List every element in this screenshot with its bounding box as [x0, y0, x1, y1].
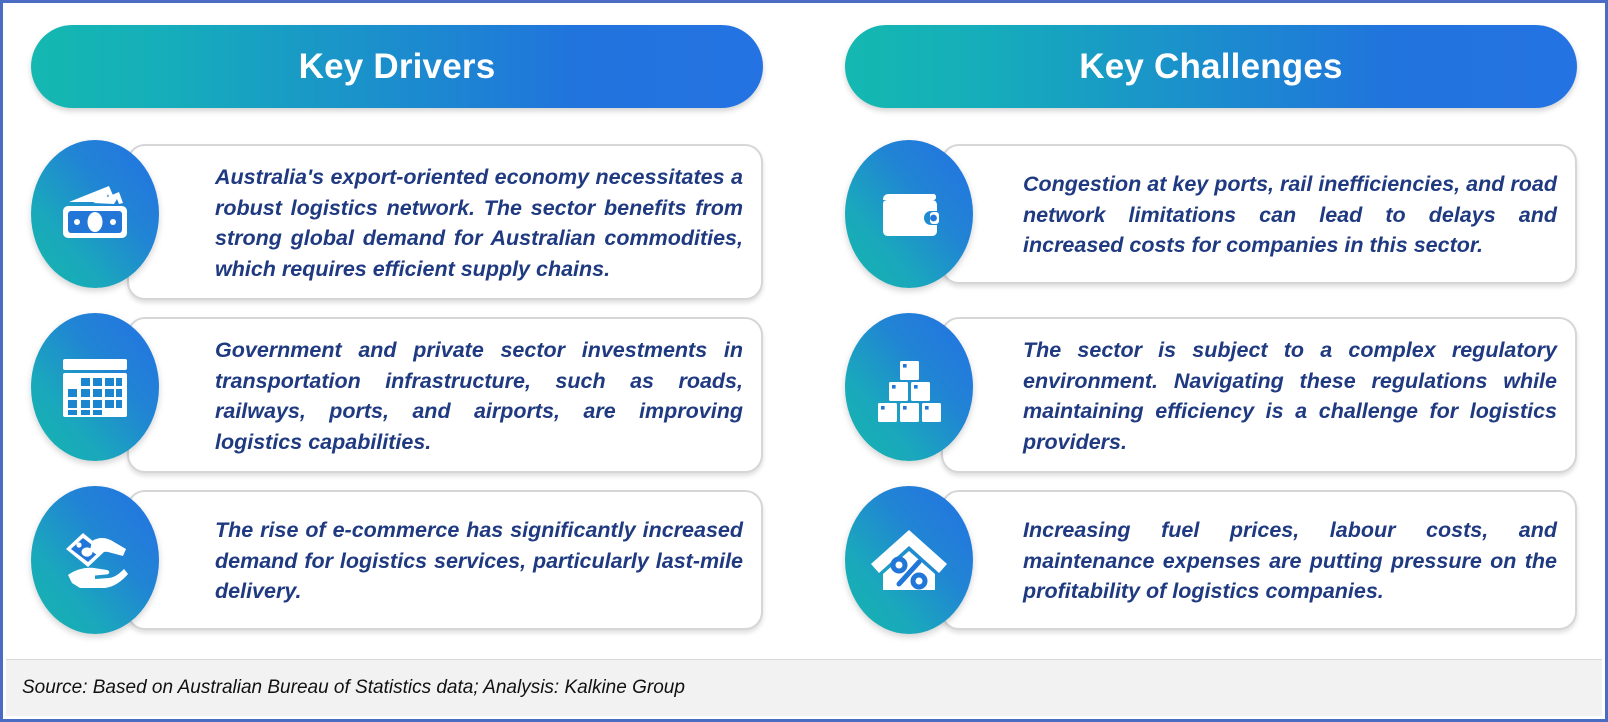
icon-container [845, 313, 973, 461]
card-description: The sector is subject to a complex regul… [1023, 335, 1557, 457]
card-text-panel: The sector is subject to a complex regul… [941, 317, 1577, 473]
card-description: Congestion at key ports, rail inefficien… [1023, 169, 1557, 261]
card-description: Increasing fuel prices, labour costs, an… [1023, 515, 1557, 607]
house-percent-icon [845, 486, 973, 634]
card-description: The rise of e-commerce has significantly… [215, 515, 743, 607]
icon-container [31, 140, 159, 288]
column-key-challenges: Key Challenges [845, 25, 1577, 658]
card-text-panel: The rise of e-commerce has significantly… [127, 490, 763, 630]
column-key-drivers: Key Drivers [31, 25, 763, 658]
card-text-panel: Congestion at key ports, rail inefficien… [941, 144, 1577, 284]
icon-container [31, 486, 159, 634]
stacked-boxes-icon [845, 313, 973, 461]
cash-money-icon [31, 140, 159, 288]
card-item[interactable]: Increasing fuel prices, labour costs, an… [845, 490, 1577, 636]
card-item[interactable]: Australia's export-oriented economy nece… [31, 144, 763, 290]
infographic-page: Key Drivers [0, 0, 1608, 722]
card-list-key-drivers: Australia's export-oriented economy nece… [31, 144, 763, 636]
card-item[interactable]: Congestion at key ports, rail inefficien… [845, 144, 1577, 290]
card-item[interactable]: The rise of e-commerce has significantly… [31, 490, 763, 636]
icon-container [31, 313, 159, 461]
wallet-icon [845, 140, 973, 288]
source-note: Source: Based on Australian Bureau of St… [22, 677, 685, 699]
calendar-grid-icon [31, 313, 159, 461]
card-text-panel: Australia's export-oriented economy nece… [127, 144, 763, 300]
header-pill-key-drivers: Key Drivers [31, 25, 763, 108]
card-description: Government and private sector investment… [215, 335, 743, 457]
column-title: Key Drivers [299, 47, 496, 87]
card-text-panel: Government and private sector investment… [127, 317, 763, 473]
card-item[interactable]: Government and private sector investment… [31, 317, 763, 463]
hand-giving-money-icon [31, 486, 159, 634]
card-description: Australia's export-oriented economy nece… [215, 162, 743, 284]
column-title: Key Challenges [1079, 47, 1342, 87]
card-text-panel: Increasing fuel prices, labour costs, an… [941, 490, 1577, 630]
header-pill-key-challenges: Key Challenges [845, 25, 1577, 108]
footer-source-bar: Source: Based on Australian Bureau of St… [6, 659, 1602, 716]
icon-container [845, 140, 973, 288]
card-list-key-challenges: Congestion at key ports, rail inefficien… [845, 144, 1577, 636]
card-item[interactable]: The sector is subject to a complex regul… [845, 317, 1577, 463]
two-column-layout: Key Drivers [3, 3, 1605, 658]
icon-container [845, 486, 973, 634]
